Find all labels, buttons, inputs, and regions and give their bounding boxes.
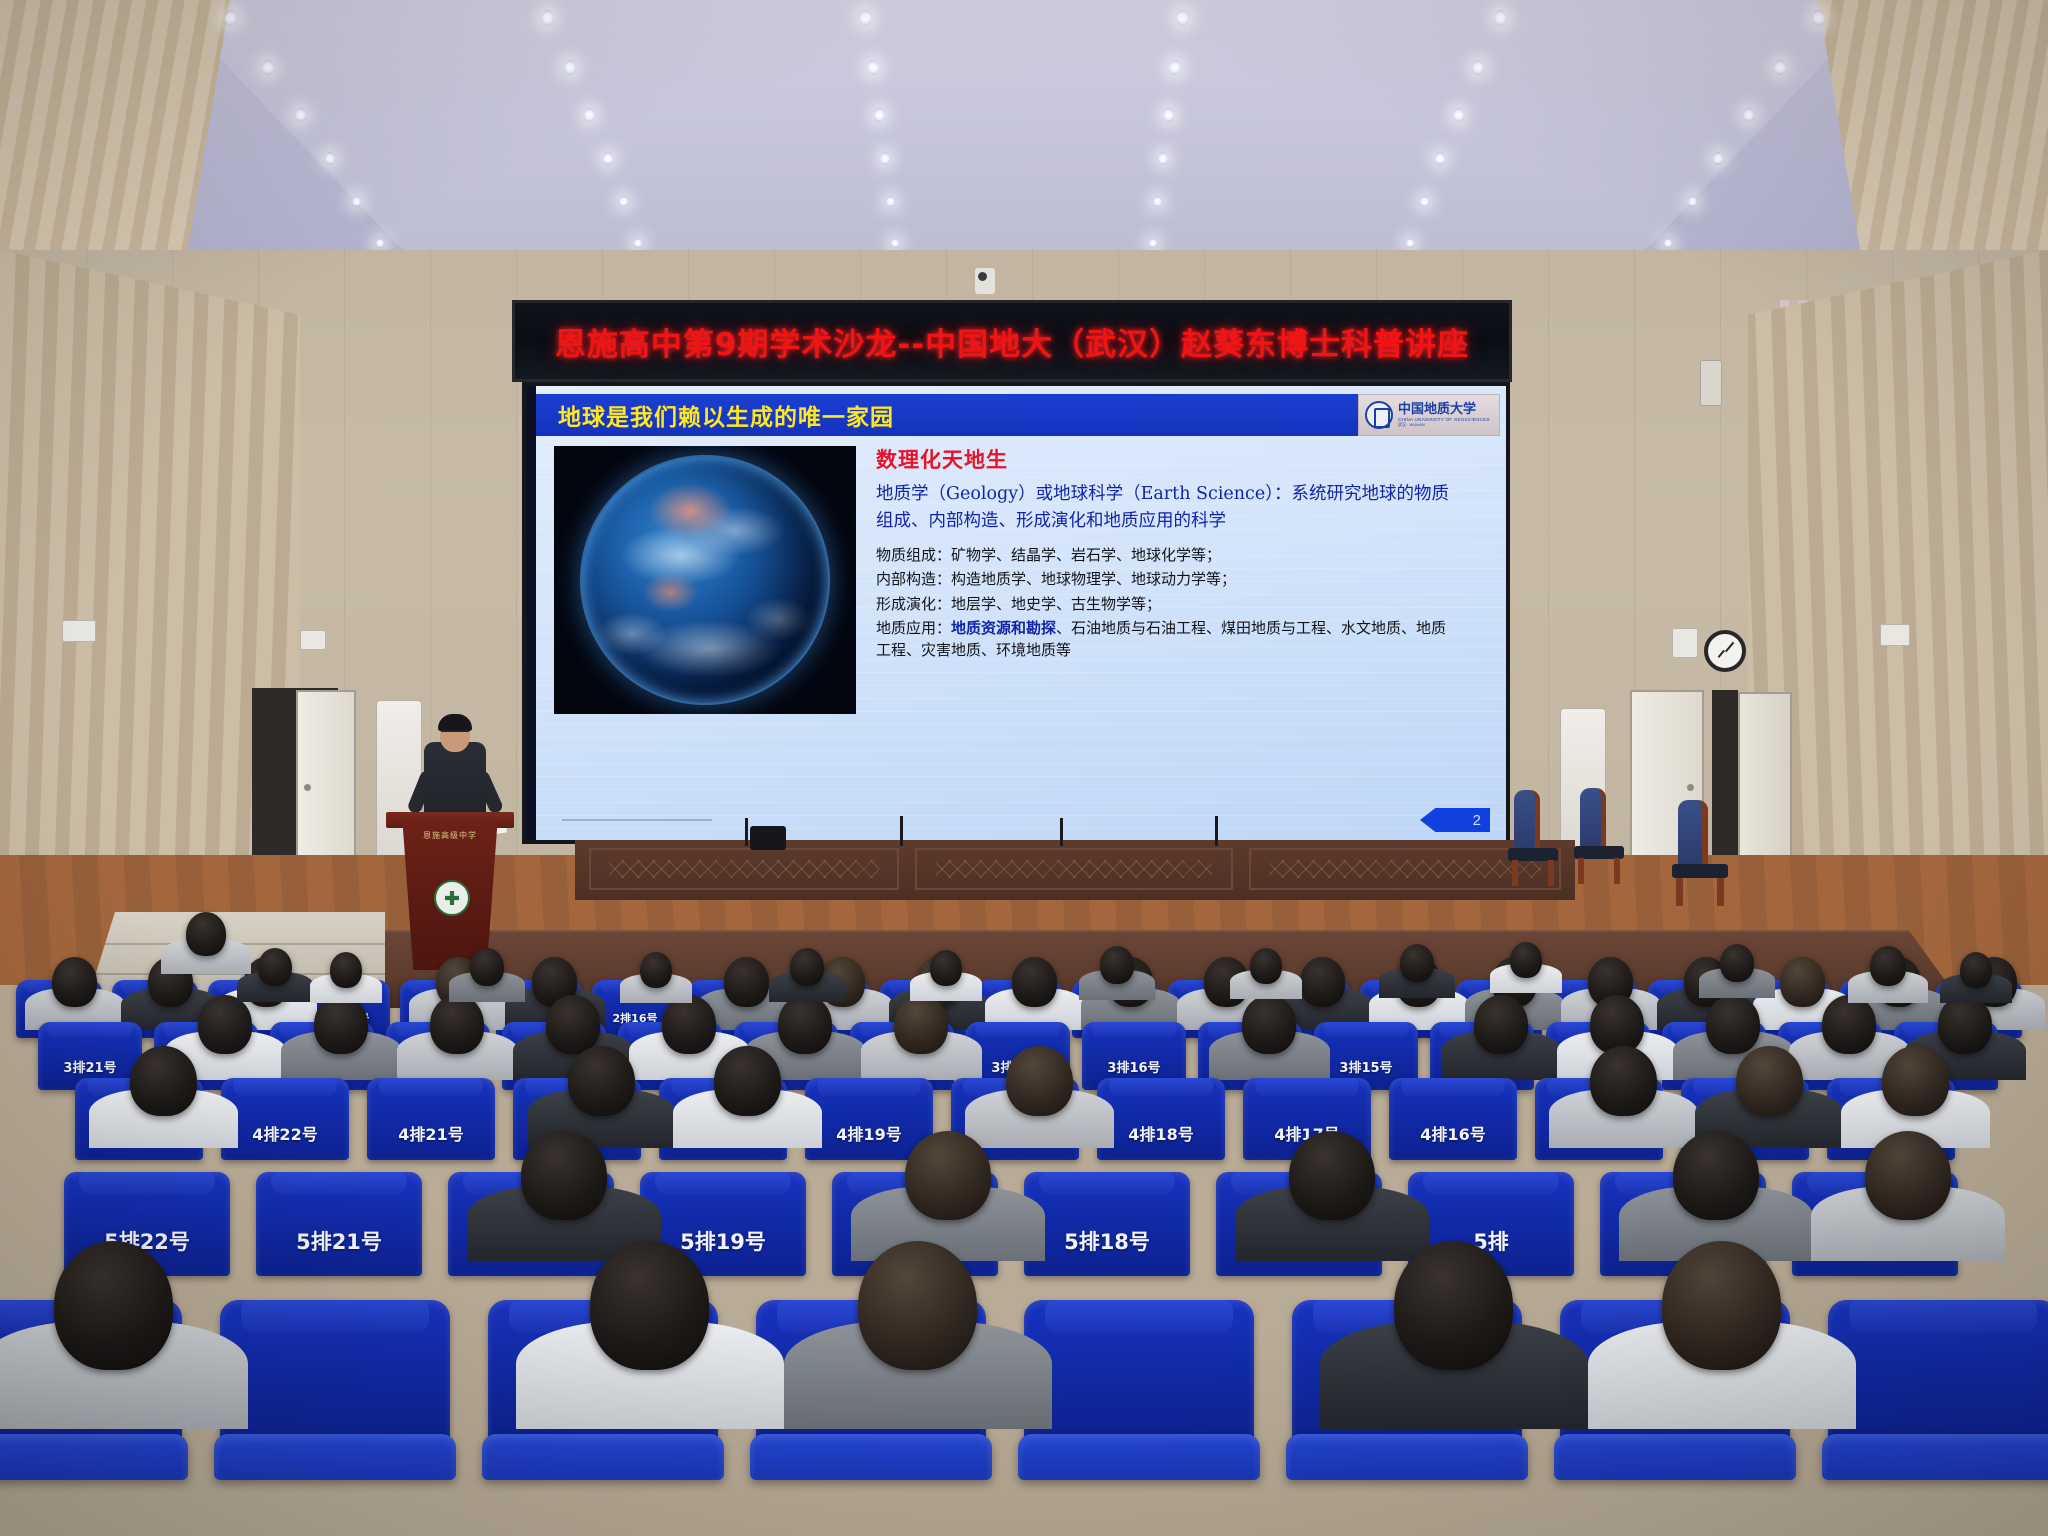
audience-member-head: [470, 948, 504, 986]
stage-chair-1[interactable]: [1508, 790, 1562, 886]
school-crest-icon: [434, 880, 470, 916]
audience-member-head: [1510, 942, 1542, 978]
audience-member-head: [1394, 1241, 1514, 1370]
microphone-stand: [1060, 818, 1063, 846]
seat-label: 4排22号: [221, 1121, 349, 1145]
ceiling-light: [224, 10, 237, 26]
audience-member-head: [1012, 957, 1057, 1007]
audience-member-head: [1780, 957, 1825, 1007]
university-seal-icon: [1365, 401, 1393, 429]
slide-definition: 地质学（Geology）或地球科学（Earth Science）：系统研究地球的…: [876, 481, 1456, 535]
ceiling-light: [262, 60, 274, 75]
ceiling-light: [886, 196, 895, 207]
seat-cushion: [1822, 1434, 2048, 1480]
seat-label: 3排16号: [1082, 1057, 1186, 1076]
microphone-stand: [900, 816, 903, 846]
ceiling-light: [619, 196, 628, 207]
audience-member-head: [778, 995, 832, 1053]
seat[interactable]: [1828, 1300, 2048, 1450]
ceiling-light: [603, 152, 613, 165]
audience-member-head: [590, 1241, 710, 1370]
wood-panel: [589, 848, 899, 890]
ceiling-light: [1472, 60, 1484, 75]
audience-member-head: [1822, 995, 1876, 1053]
seat-headrest: [1401, 1078, 1506, 1096]
seat-label: 4排18号: [1097, 1121, 1225, 1145]
audience-member-head: [858, 1241, 978, 1370]
audience-member-head: [52, 957, 97, 1007]
ceiling-light: [1158, 152, 1168, 165]
ceiling-light: [880, 152, 890, 165]
audience-member-head: [894, 995, 948, 1053]
ceiling-light: [874, 108, 885, 122]
ceiling-light: [295, 108, 306, 122]
audience-member-head: [1289, 1131, 1375, 1220]
led-banner: 恩施高中第9期学术沙龙--中国地大（武汉）赵葵东博士科普讲座: [512, 300, 1512, 382]
door-knob-icon: [304, 784, 311, 791]
audience-member-head: [1250, 948, 1282, 984]
intercom-icon: [975, 268, 995, 294]
slide-heading-red: 数理化天地生: [876, 444, 1456, 474]
slide-header-band: 地球是我们赖以生成的唯一家园: [536, 394, 1456, 436]
university-logo: 中国地质大学 CHINA UNIVERSITY OF GEOSCIENCES 武…: [1358, 394, 1500, 436]
seat[interactable]: [1024, 1300, 1254, 1450]
stage-chair-3[interactable]: [1672, 800, 1732, 906]
slide-application-line: 地质应用：地质资源和勘探、石油地质与石油工程、煤田地质与工程、水文地质、地质工程…: [876, 617, 1456, 661]
seat-label: 4排16号: [1389, 1121, 1517, 1145]
slide-left-bar: [526, 386, 536, 840]
wood-panel: [915, 848, 1233, 890]
application-highlight: 地质资源和勘探: [951, 619, 1056, 637]
seat[interactable]: 4排21号: [367, 1078, 495, 1160]
audience-member-head: [930, 950, 962, 986]
audience-member-head: [258, 948, 292, 986]
seat-headrest: [1091, 1022, 1176, 1037]
seat[interactable]: 4排16号: [1389, 1078, 1517, 1160]
seat-headrest: [1849, 1300, 2038, 1333]
projection-screen: 地球是我们赖以生成的唯一家园 中国地质大学 CHINA UNIVERSITY O…: [522, 382, 1510, 844]
ceiling-light: [867, 60, 879, 75]
ceiling-light: [1453, 108, 1464, 122]
wall-speaker-right: [1700, 360, 1722, 406]
ceiling-light: [1494, 10, 1507, 26]
ceiling-light: [1774, 60, 1786, 75]
audience-member-head: [1474, 995, 1528, 1053]
seat-cushion: [1554, 1434, 1796, 1480]
application-prefix: 地质应用：: [876, 619, 951, 637]
seat-cushion: [1018, 1434, 1260, 1480]
diamond-motif: [1269, 860, 1540, 878]
stage-monitor-speaker: [750, 826, 786, 850]
audience-member-head: [1400, 944, 1434, 982]
audience-member-head: [1662, 1241, 1782, 1370]
slide-body-line: 形成演化：地层学、地史学、古生物学等；: [876, 593, 1456, 615]
audience-member-head: [521, 1131, 607, 1220]
ceiling-light: [376, 238, 384, 248]
seat-headrest: [271, 1172, 407, 1195]
ceiling-light: [859, 10, 872, 26]
audience-member-head: [1865, 1131, 1951, 1220]
microphone-stand: [745, 818, 748, 846]
ceiling-light: [1713, 152, 1723, 165]
ceiling-light: [1664, 238, 1672, 248]
ceiling-light: [352, 196, 361, 207]
slide-body-line: 物质组成：矿物学、结晶学、岩石学、地球化学等；: [876, 544, 1456, 566]
audience-member-head: [186, 912, 226, 956]
audience-member-head: [314, 995, 368, 1053]
seat-label: 4排21号: [367, 1121, 495, 1145]
ceiling-light: [1812, 10, 1825, 26]
led-banner-text: 恩施高中第9期学术沙龙--中国地大（武汉）赵葵东博士科普讲座: [555, 319, 1469, 364]
seat[interactable]: 5排21号: [256, 1172, 422, 1276]
audience-member-head: [130, 1046, 197, 1117]
ceiling-light: [1688, 196, 1697, 207]
podium-engraved-text: 恩施高级中学: [392, 830, 508, 841]
audience-member-head: [1736, 1046, 1803, 1117]
slide-body-line: 内部构造：构造地质学、地球物理学、地球动力学等；: [876, 568, 1456, 590]
ceiling-light: [634, 238, 642, 248]
seat-cushion: [482, 1434, 724, 1480]
audience-member-head: [198, 995, 252, 1053]
audience-member-head: [1242, 995, 1296, 1053]
wall-switch-box: [1672, 628, 1698, 658]
speaker-hair: [438, 714, 472, 731]
seat[interactable]: 5排18号: [1024, 1172, 1190, 1276]
audience-member-head: [430, 995, 484, 1053]
earth-atmosphere-rim: [580, 455, 830, 705]
slide-body-list: 物质组成：矿物学、结晶学、岩石学、地球化学等； 内部构造：构造地质学、地球物理学…: [876, 544, 1456, 661]
audience-member-head: [568, 1046, 635, 1117]
earth-photo: [554, 446, 856, 714]
door-knob-icon: [1687, 784, 1694, 791]
seat[interactable]: 4排18号: [1097, 1078, 1225, 1160]
seat-label: 4排19号: [805, 1121, 933, 1145]
audience-member-head: [640, 952, 672, 988]
audience-member-head: [905, 1131, 991, 1220]
ceiling-light: [1149, 238, 1157, 248]
screen-base-paneling: [575, 840, 1575, 900]
ceiling-light: [325, 152, 335, 165]
seat-headrest: [975, 1022, 1060, 1037]
audience-member-head: [54, 1241, 174, 1370]
audience-member-head: [1673, 1131, 1759, 1220]
audience-member-head: [1960, 952, 1992, 988]
audience-member-head: [330, 952, 362, 988]
audience-member-head: [1706, 995, 1760, 1053]
audience-member-head: [662, 995, 716, 1053]
microphone-stand: [1215, 816, 1218, 846]
seat-label: 3排21号: [38, 1057, 142, 1076]
seat-headrest: [379, 1078, 484, 1096]
seat-cushion: [750, 1434, 992, 1480]
audience-member-head: [1300, 957, 1345, 1007]
audience-member-head: [1720, 944, 1754, 982]
wall-switch-box-right: [1880, 624, 1910, 646]
ceiling-light: [1743, 108, 1754, 122]
ceiling-light: [584, 108, 595, 122]
seat-headrest: [79, 1172, 215, 1195]
lecture-hall-photo: 恩施高中第9期学术沙龙--中国地大（武汉）赵葵东博士科普讲座 地球是我们赖以生成…: [0, 0, 2048, 1536]
university-name-cn: 中国地质大学: [1398, 403, 1490, 416]
audience-member-head: [1100, 946, 1134, 984]
diamond-motif: [609, 860, 878, 878]
university-campus: 武汉 · WUHAN: [1398, 423, 1490, 427]
audience-member-head: [714, 1046, 781, 1117]
audience-member-head: [790, 948, 824, 986]
seat[interactable]: [220, 1300, 450, 1450]
seat-headrest: [1323, 1022, 1408, 1037]
seat-label: 5排18号: [1024, 1226, 1190, 1256]
seat-cushion: [214, 1434, 456, 1480]
seat-cushion: [1286, 1434, 1528, 1480]
seat-headrest: [1039, 1172, 1175, 1195]
audience-member-head: [724, 957, 769, 1007]
wall-switch-box-left-2: [300, 630, 326, 650]
seat[interactable]: 4排22号: [221, 1078, 349, 1160]
seat-headrest: [233, 1078, 338, 1096]
seat-cushion: [0, 1434, 188, 1480]
stage-chair-2[interactable]: [1574, 788, 1628, 884]
slide-title: 地球是我们赖以生成的唯一家园: [558, 398, 894, 432]
seat-headrest: [1109, 1078, 1214, 1096]
wall-switch-box-left: [62, 620, 96, 642]
seat-headrest: [241, 1300, 430, 1333]
ceiling-light: [1435, 152, 1445, 165]
diamond-motif: [936, 860, 1212, 878]
seat-headrest: [817, 1078, 922, 1096]
glasses-icon: [441, 730, 469, 736]
audience-member-head: [1590, 995, 1644, 1053]
slide-text-column: 数理化天地生 地质学（Geology）或地球科学（Earth Science）：…: [876, 444, 1456, 663]
audience-member-head: [1870, 946, 1906, 986]
audience-member-head: [1590, 1046, 1657, 1117]
seat-headrest: [47, 1022, 132, 1037]
seat-headrest: [1045, 1300, 1234, 1333]
wall-clock-icon: [1704, 630, 1746, 672]
seat-headrest: [1423, 1172, 1559, 1195]
audience-member-head: [1882, 1046, 1949, 1117]
seat-label: 5排21号: [256, 1226, 422, 1256]
audience-member-head: [546, 995, 600, 1053]
audience-member-head: [1006, 1046, 1073, 1117]
seat-headrest: [1255, 1078, 1360, 1096]
seat-headrest: [655, 1172, 791, 1195]
audience-member-head: [1938, 995, 1992, 1053]
slide-footer-rule: [562, 819, 712, 821]
